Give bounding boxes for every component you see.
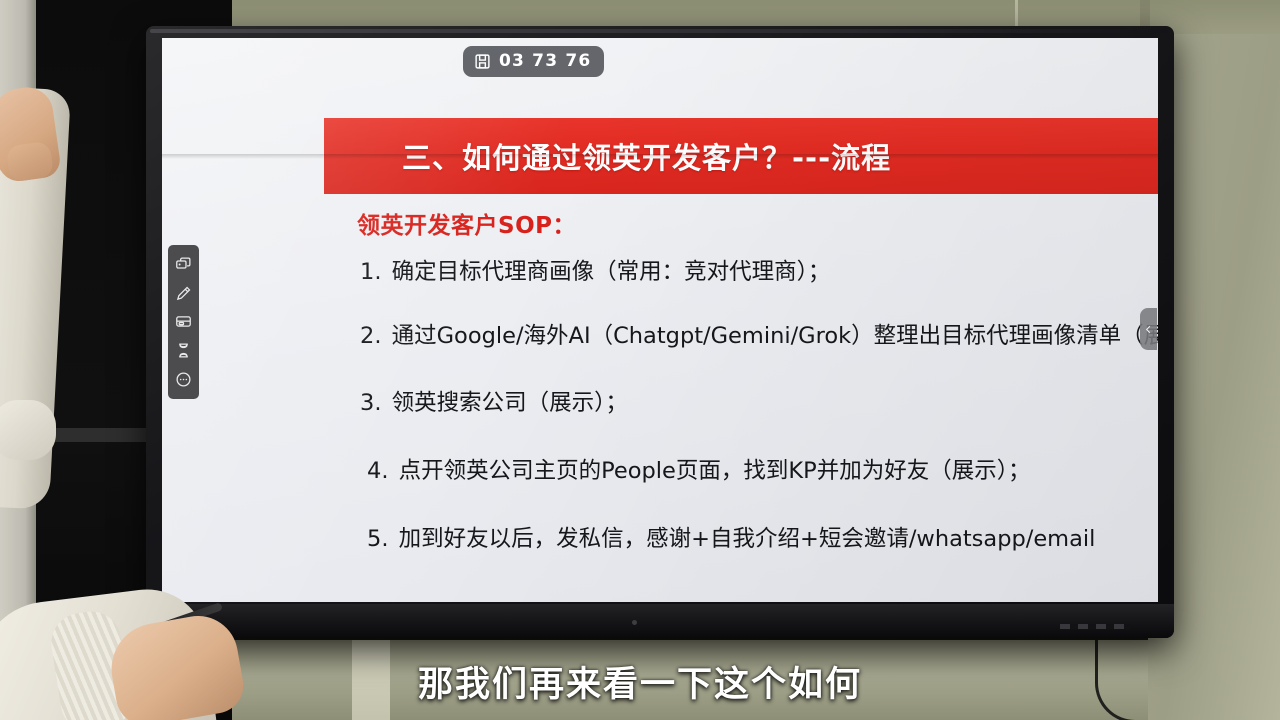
list-item-number: 1. (360, 259, 381, 285)
list-item-number: 4. (367, 458, 388, 484)
sidebar-edge-tab[interactable] (1140, 308, 1157, 350)
watermark-text: 03 73 76 (499, 51, 591, 71)
display-ir-sensor (632, 620, 637, 625)
list-item-number: 5. (367, 526, 388, 552)
list-item: 2. 通过Google/海外AI（Chatgpt/Gemini/Grok）整理出… (360, 322, 1158, 351)
chevron-left-icon (1143, 324, 1154, 335)
presenter-sleeve-mid (0, 400, 56, 460)
display-ports (1060, 624, 1130, 629)
video-subtitle: 那我们再来看一下这个如何 (0, 656, 1280, 707)
list-item: 3. 领英搜索公司（展示）； (360, 389, 628, 418)
scene-root: 三、如何通过领英开发客户？---流程 领英开发客户SOP： 1. 确定目标代理商… (0, 0, 1280, 720)
list-item-number: 3. (360, 390, 381, 416)
list-item: 4. 点开领英公司主页的People页面，找到KP并加为好友（展示）； (367, 457, 1030, 486)
list-item-text: 点开领英公司主页的People页面，找到KP并加为好友（展示）； (399, 458, 1031, 484)
list-item-text: 通过Google/海外AI（Chatgpt/Gemini/Grok）整理出目标代… (392, 323, 1158, 349)
title-band-shadow (162, 154, 1158, 159)
slide-body: 领英开发客户SOP： 1. 确定目标代理商画像（常用：竞对代理商）； 2. 通过… (324, 198, 1158, 602)
watermark-badge: 03 73 76 (463, 46, 604, 77)
display-screen[interactable]: 三、如何通过领英开发客户？---流程 领英开发客户SOP： 1. 确定目标代理商… (162, 38, 1158, 602)
list-item-text: 确定目标代理商画像（常用：竞对代理商）； (392, 259, 831, 285)
list-item: 5. 加到好友以后，发私信，感谢+自我介绍+短会邀请/whatsapp/emai… (367, 525, 1095, 554)
display-chin (146, 604, 1174, 638)
list-item-text: 领英搜索公司（展示）； (392, 390, 628, 416)
slide-heading: 领英开发客户SOP： (357, 206, 576, 240)
list-item-text: 加到好友以后，发私信，感谢+自我介绍+短会邀请/whatsapp/email (399, 526, 1096, 552)
presenter (0, 0, 230, 720)
save-document-icon (474, 53, 491, 70)
display-bezel-highlight (150, 29, 1168, 33)
list-item: 1. 确定目标代理商画像（常用：竞对代理商）； (360, 258, 830, 287)
list-item-number: 2. (360, 323, 381, 349)
